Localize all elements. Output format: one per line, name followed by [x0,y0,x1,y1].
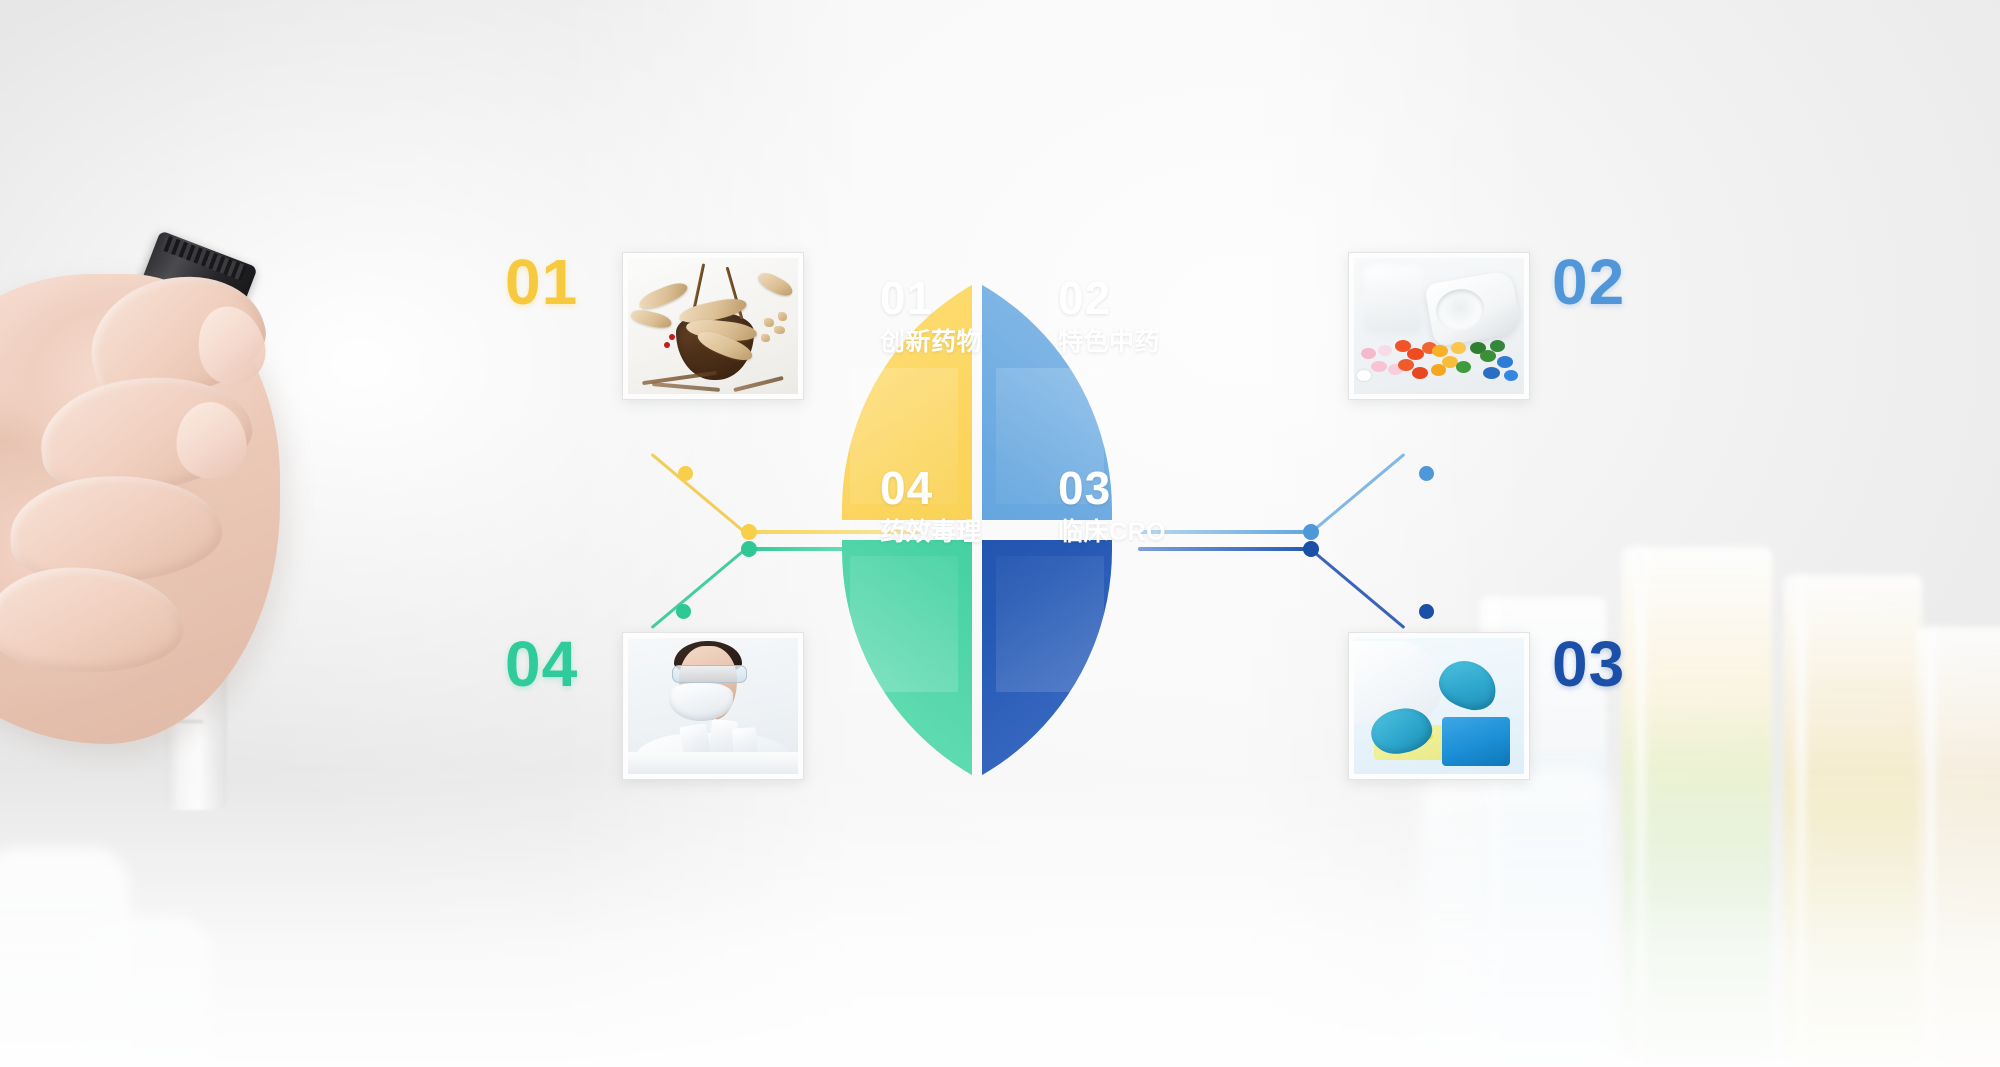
foreground-blur-shape [0,847,130,1067]
background-tube [1622,547,1772,1067]
finger [33,364,259,504]
connector-line [1310,453,1405,534]
connector-line [1138,547,1314,551]
finger [0,565,186,676]
wheel-segment-02[interactable] [982,250,1112,520]
connector-line [651,453,746,534]
thumbnail-02[interactable] [1348,252,1530,400]
connector-joint-dot [1303,541,1319,557]
wheel-segment-inner-highlight [850,556,958,692]
wheel-segment-inner-highlight [850,368,958,504]
capsule-filling-photo-icon [1354,638,1524,774]
connector-endpoint-dot [676,604,691,619]
outer-number-02: 02 [1552,250,1625,314]
herbs-photo-icon [628,258,798,394]
finger [7,471,224,588]
test-tube-liquid [0,478,152,709]
connector-line [1138,530,1314,534]
fingernail [190,299,273,391]
connector-joint-dot [741,524,757,540]
pills-photo-icon [1354,258,1524,394]
test-tube-scene [0,250,490,810]
background-test-tubes [1440,520,2000,1067]
outer-number-01: 01 [505,250,578,314]
test-tube-icon [0,285,228,712]
outer-number-04: 04 [505,632,578,696]
thumbnail-04[interactable] [622,632,804,780]
wheel-segment-04[interactable] [842,540,972,810]
connector-endpoint-dot [1419,466,1434,481]
fingernail [172,399,250,482]
connector-endpoint-dot [1419,604,1434,619]
foreground-blur-shape [1420,767,1610,1067]
connector-line [651,548,746,629]
wheel-segment-inner-highlight [996,556,1104,692]
wheel-segment-03[interactable] [982,540,1112,810]
finger [75,256,276,416]
thumbnail-01[interactable] [622,252,804,400]
segmented-wheel [842,250,1112,810]
background-tube [1784,575,1922,1067]
connector-line [1310,548,1405,629]
connector-endpoint-dot [678,466,693,481]
scientist-photo-icon [628,638,798,774]
outer-number-03: 03 [1552,632,1625,696]
background-bottom-wash [0,767,2000,1067]
wheel-segment-inner-highlight [996,368,1104,504]
poster-stage: 01 创新药物 02 特色中药 04 药效毒理 03 临床CRO 01 02 0… [0,0,2000,1067]
wheel-segment-01[interactable] [842,250,972,520]
connector-joint-dot [1303,524,1319,540]
background-tube [1916,627,2000,1067]
hand-illustration [0,274,280,744]
test-tube-cap-icon [133,230,257,338]
foreground-blur-shape [90,917,210,1067]
connector-joint-dot [741,541,757,557]
tube-rack-icon [165,420,227,810]
thumbnail-03[interactable] [1348,632,1530,780]
